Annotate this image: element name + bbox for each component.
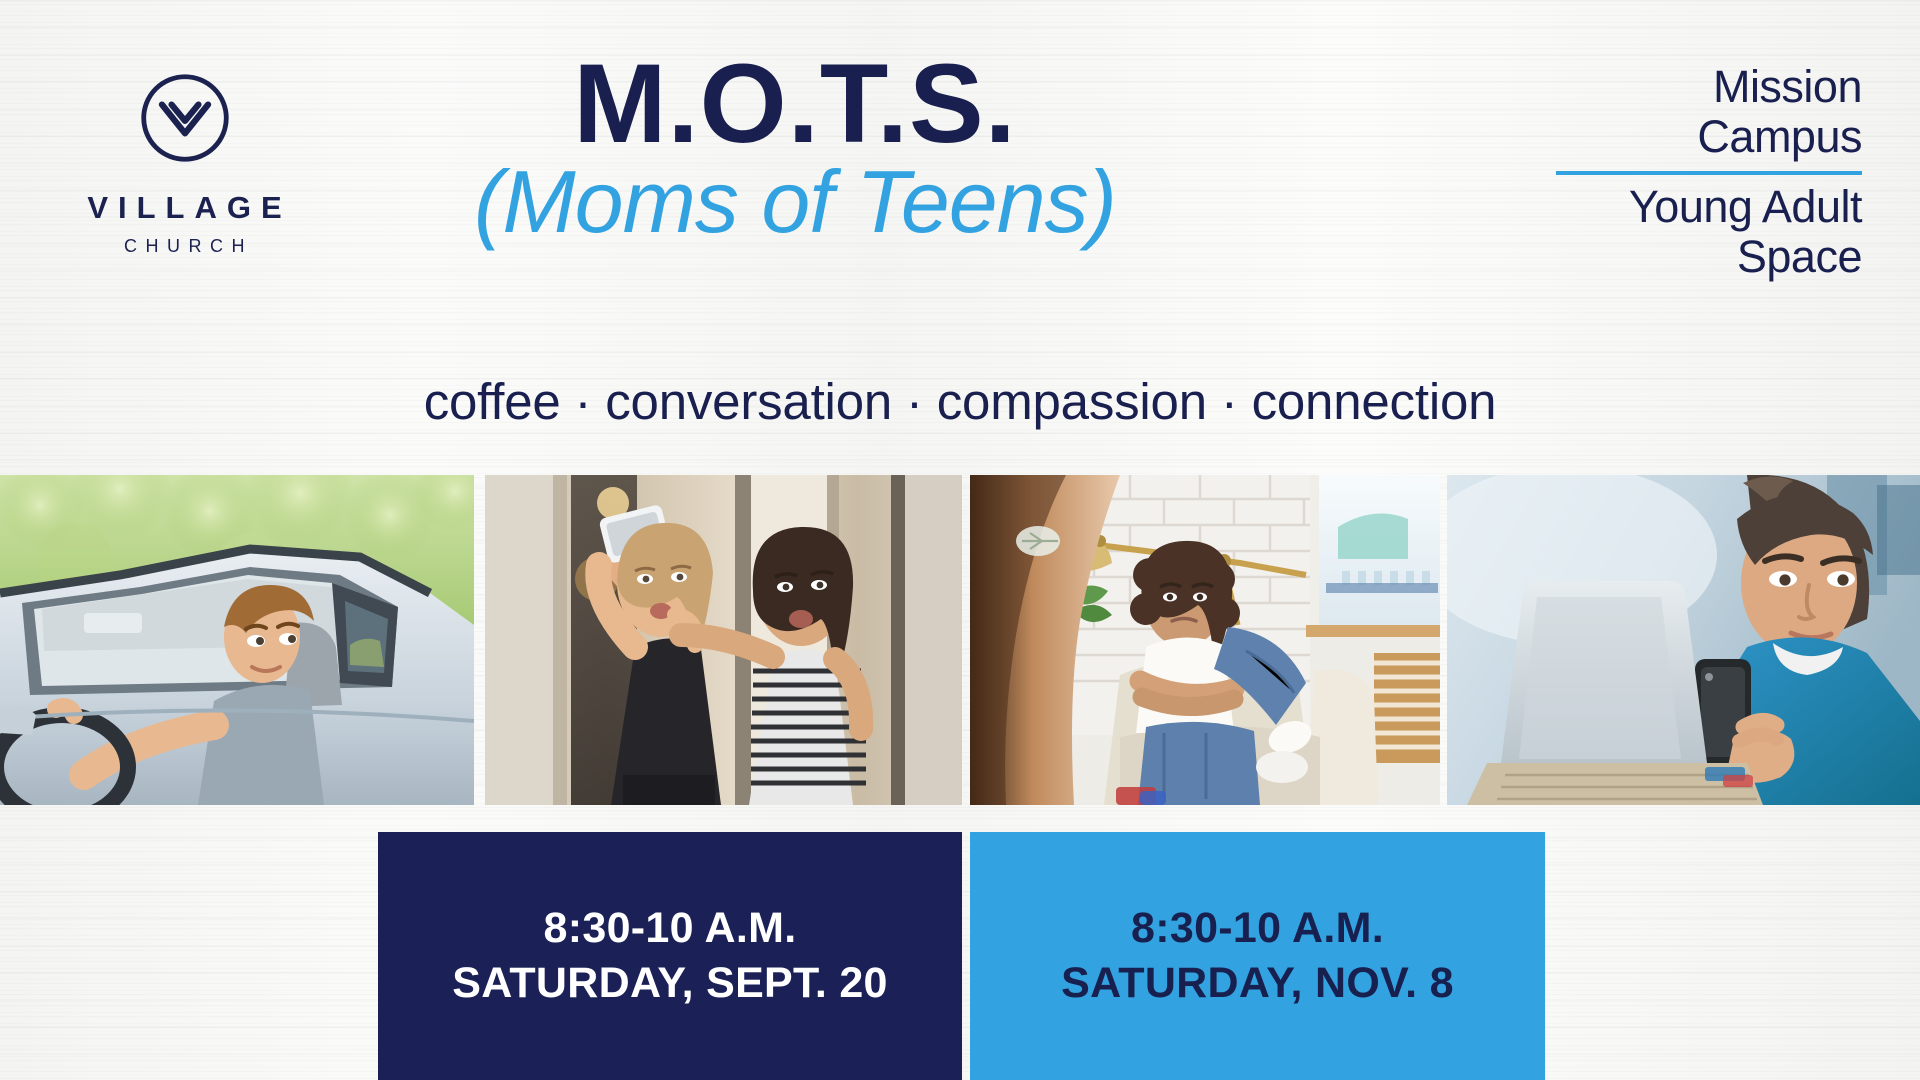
page-title: M.O.T.S. — [330, 48, 1260, 160]
session-time-1: 8:30-10 A.M. — [544, 901, 797, 956]
session-day-1: SATURDAY, SEPT. 20 — [452, 956, 888, 1011]
poster-header: VILLAGE CHURCH M.O.T.S. (Moms of Teens) … — [0, 0, 1920, 470]
session-time-2: 8:30-10 A.M. — [1131, 901, 1384, 956]
campus-name-line-2: Campus — [1532, 112, 1862, 162]
campus-name-line-1: Mission — [1532, 62, 1862, 112]
campus-divider — [1556, 171, 1862, 175]
title-block: M.O.T.S. (Moms of Teens) — [330, 48, 1260, 248]
village-church-logo: VILLAGE CHURCH — [70, 70, 300, 257]
session-box-september[interactable]: 8:30-10 A.M. SATURDAY, SEPT. 20 — [378, 832, 962, 1080]
campus-space-line-1: Young Adult — [1532, 182, 1862, 232]
session-box-november[interactable]: 8:30-10 A.M. SATURDAY, NOV. 8 — [970, 832, 1545, 1080]
village-church-chevron-circle-icon — [137, 70, 233, 166]
photo-teen-girl-arms-crossed — [970, 475, 1440, 805]
photo-teen-boy-driving-car — [0, 475, 474, 805]
page-subtitle: (Moms of Teens) — [330, 156, 1260, 248]
photo-teen-boy-phone-laptop — [1447, 475, 1920, 805]
photo-strip — [0, 475, 1920, 805]
campus-space-line-2: Space — [1532, 232, 1862, 282]
session-day-2: SATURDAY, NOV. 8 — [1061, 956, 1454, 1011]
logo-subword: CHURCH — [70, 236, 300, 257]
session-date-boxes: 8:30-10 A.M. SATURDAY, SEPT. 20 8:30-10 … — [0, 832, 1920, 1080]
campus-location-block: Mission Campus Young Adult Space — [1532, 62, 1862, 283]
logo-wordmark: VILLAGE — [70, 192, 300, 223]
photo-two-teen-girls-selfie — [485, 475, 962, 805]
tagline: coffee · conversation · compassion · con… — [0, 372, 1920, 431]
